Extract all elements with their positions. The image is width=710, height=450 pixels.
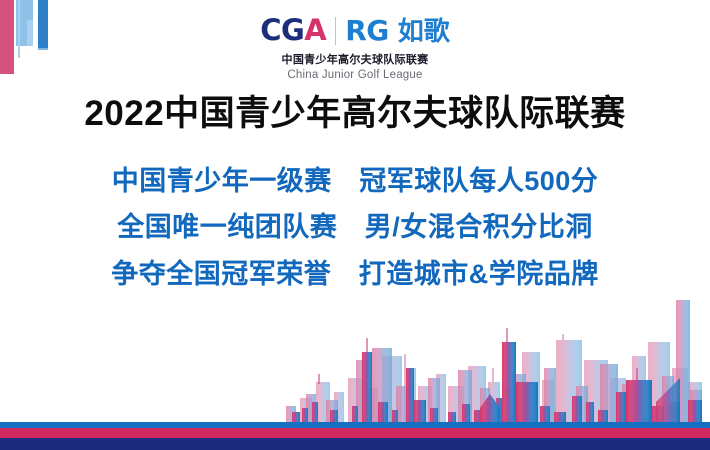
- ruge-wordmark: 如歌: [398, 18, 450, 44]
- cga-letter-g: G: [281, 13, 304, 47]
- bottom-band-navy: [0, 438, 710, 450]
- logo-wordmark-row: CGA RG 如歌: [0, 16, 710, 45]
- slogan-line-2: 全国唯一纯团队赛 男/女混合积分比洞: [0, 204, 710, 250]
- rg-wordmark: RG: [345, 17, 389, 45]
- cga-wordmark: CGA: [260, 16, 326, 45]
- poster-canvas: CGA RG 如歌 中国青少年高尔夫球队际联赛 China Junior Gol…: [0, 0, 710, 450]
- cga-letter-c: C: [260, 13, 281, 47]
- slogan-line-1: 中国青少年一级赛 冠军球队每人500分: [0, 158, 710, 204]
- bottom-band-pink: [0, 428, 710, 438]
- logo-lockup: CGA RG 如歌 中国青少年高尔夫球队际联赛 China Junior Gol…: [0, 16, 710, 81]
- city-skyline-illustration: [0, 282, 710, 422]
- page-title: 2022中国青少年高尔夫球队际联赛: [0, 95, 710, 134]
- logo-subtitle-en: China Junior Golf League: [0, 69, 710, 81]
- logo-divider: [335, 17, 336, 45]
- cga-letter-a: A: [304, 13, 326, 47]
- skyline-svg: [0, 282, 710, 422]
- slogan-list: 中国青少年一级赛 冠军球队每人500分 全国唯一纯团队赛 男/女混合积分比洞 争…: [0, 158, 710, 297]
- logo-subtitle-cn: 中国青少年高尔夫球队际联赛: [0, 51, 710, 67]
